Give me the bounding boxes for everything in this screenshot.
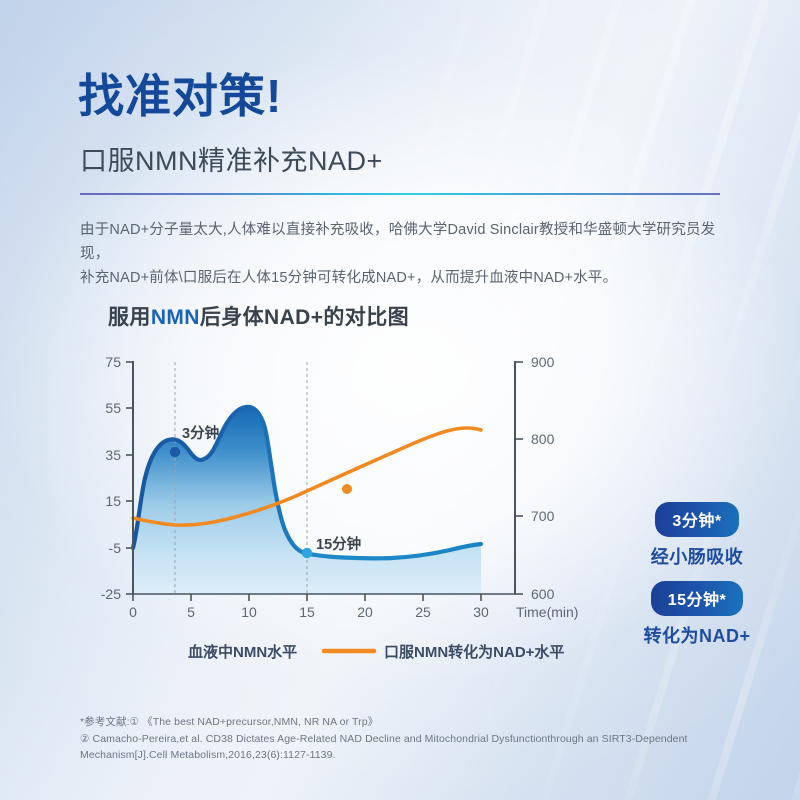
legend-label-oral-nmn: 口服NMN转化为NAD+水平: [384, 643, 564, 661]
xtick-5: 25: [415, 604, 431, 620]
footnote-line-2: ② Camacho-Pereira,et al. CD38 Dictates A…: [80, 731, 730, 748]
xtick-3: 15: [299, 604, 315, 620]
y-axis-left-labels: 75 55 35 15 -5 -25: [101, 354, 121, 602]
xtick-6: 30: [473, 604, 489, 620]
ytick-right-3: 600: [531, 586, 555, 602]
x-axis-labels: 0 5 10 15 20 25 30: [129, 604, 489, 620]
xtick-2: 10: [241, 604, 257, 620]
ytick-left-2: 35: [105, 447, 121, 463]
ytick-left-3: 15: [105, 493, 121, 509]
page-root: 找准对策! 口服NMN精准补充NAD+ 由于NAD+分子量太大,人体难以直接补充…: [0, 0, 800, 800]
ytick-left-1: 55: [105, 400, 121, 416]
marker-15min: [302, 548, 312, 558]
y-axis-right-labels: 900 800 700 600: [531, 354, 555, 602]
ytick-left-0: 75: [105, 354, 121, 370]
annotation-3min-label: 3分钟: [182, 424, 219, 442]
footnote-line-1: *参考文献:① 《The best NAD+precursor,NMN, NR …: [80, 714, 730, 731]
y-axis-left-ticks: [126, 362, 133, 594]
callout-badge-3min: 3分钟*: [655, 502, 738, 537]
marker-3min: [170, 447, 180, 457]
y-axis-right-ticks: [515, 362, 523, 594]
xtick-0: 0: [129, 604, 137, 620]
ytick-right-0: 900: [531, 354, 555, 370]
legend-label-blood-nmn: 血液中NMN水平: [188, 643, 297, 661]
ytick-left-5: -25: [101, 586, 121, 602]
callouts: 3分钟* 经小肠吸收 15分钟* 转化为NAD+: [612, 502, 782, 660]
callout-badge-15min: 15分钟*: [651, 581, 744, 616]
callout-sub-3min: 经小肠吸收: [612, 543, 782, 569]
marker-orange-18min: [342, 484, 352, 494]
xtick-1: 5: [187, 604, 195, 620]
x-axis-ticks: [133, 594, 481, 601]
ytick-left-4: -5: [109, 540, 122, 556]
footnote-line-3: Mechanism[J].Cell Metabolism,2016,23(6):…: [80, 747, 730, 764]
xtick-4: 20: [357, 604, 373, 620]
callout-sub-15min: 转化为NAD+: [612, 622, 782, 648]
ytick-right-1: 800: [531, 431, 555, 447]
x-axis-title: Time(min): [516, 604, 578, 620]
annotation-15min-label: 15分钟: [316, 535, 361, 553]
footnotes: *参考文献:① 《The best NAD+precursor,NMN, NR …: [80, 714, 730, 764]
ytick-right-2: 700: [531, 508, 555, 524]
